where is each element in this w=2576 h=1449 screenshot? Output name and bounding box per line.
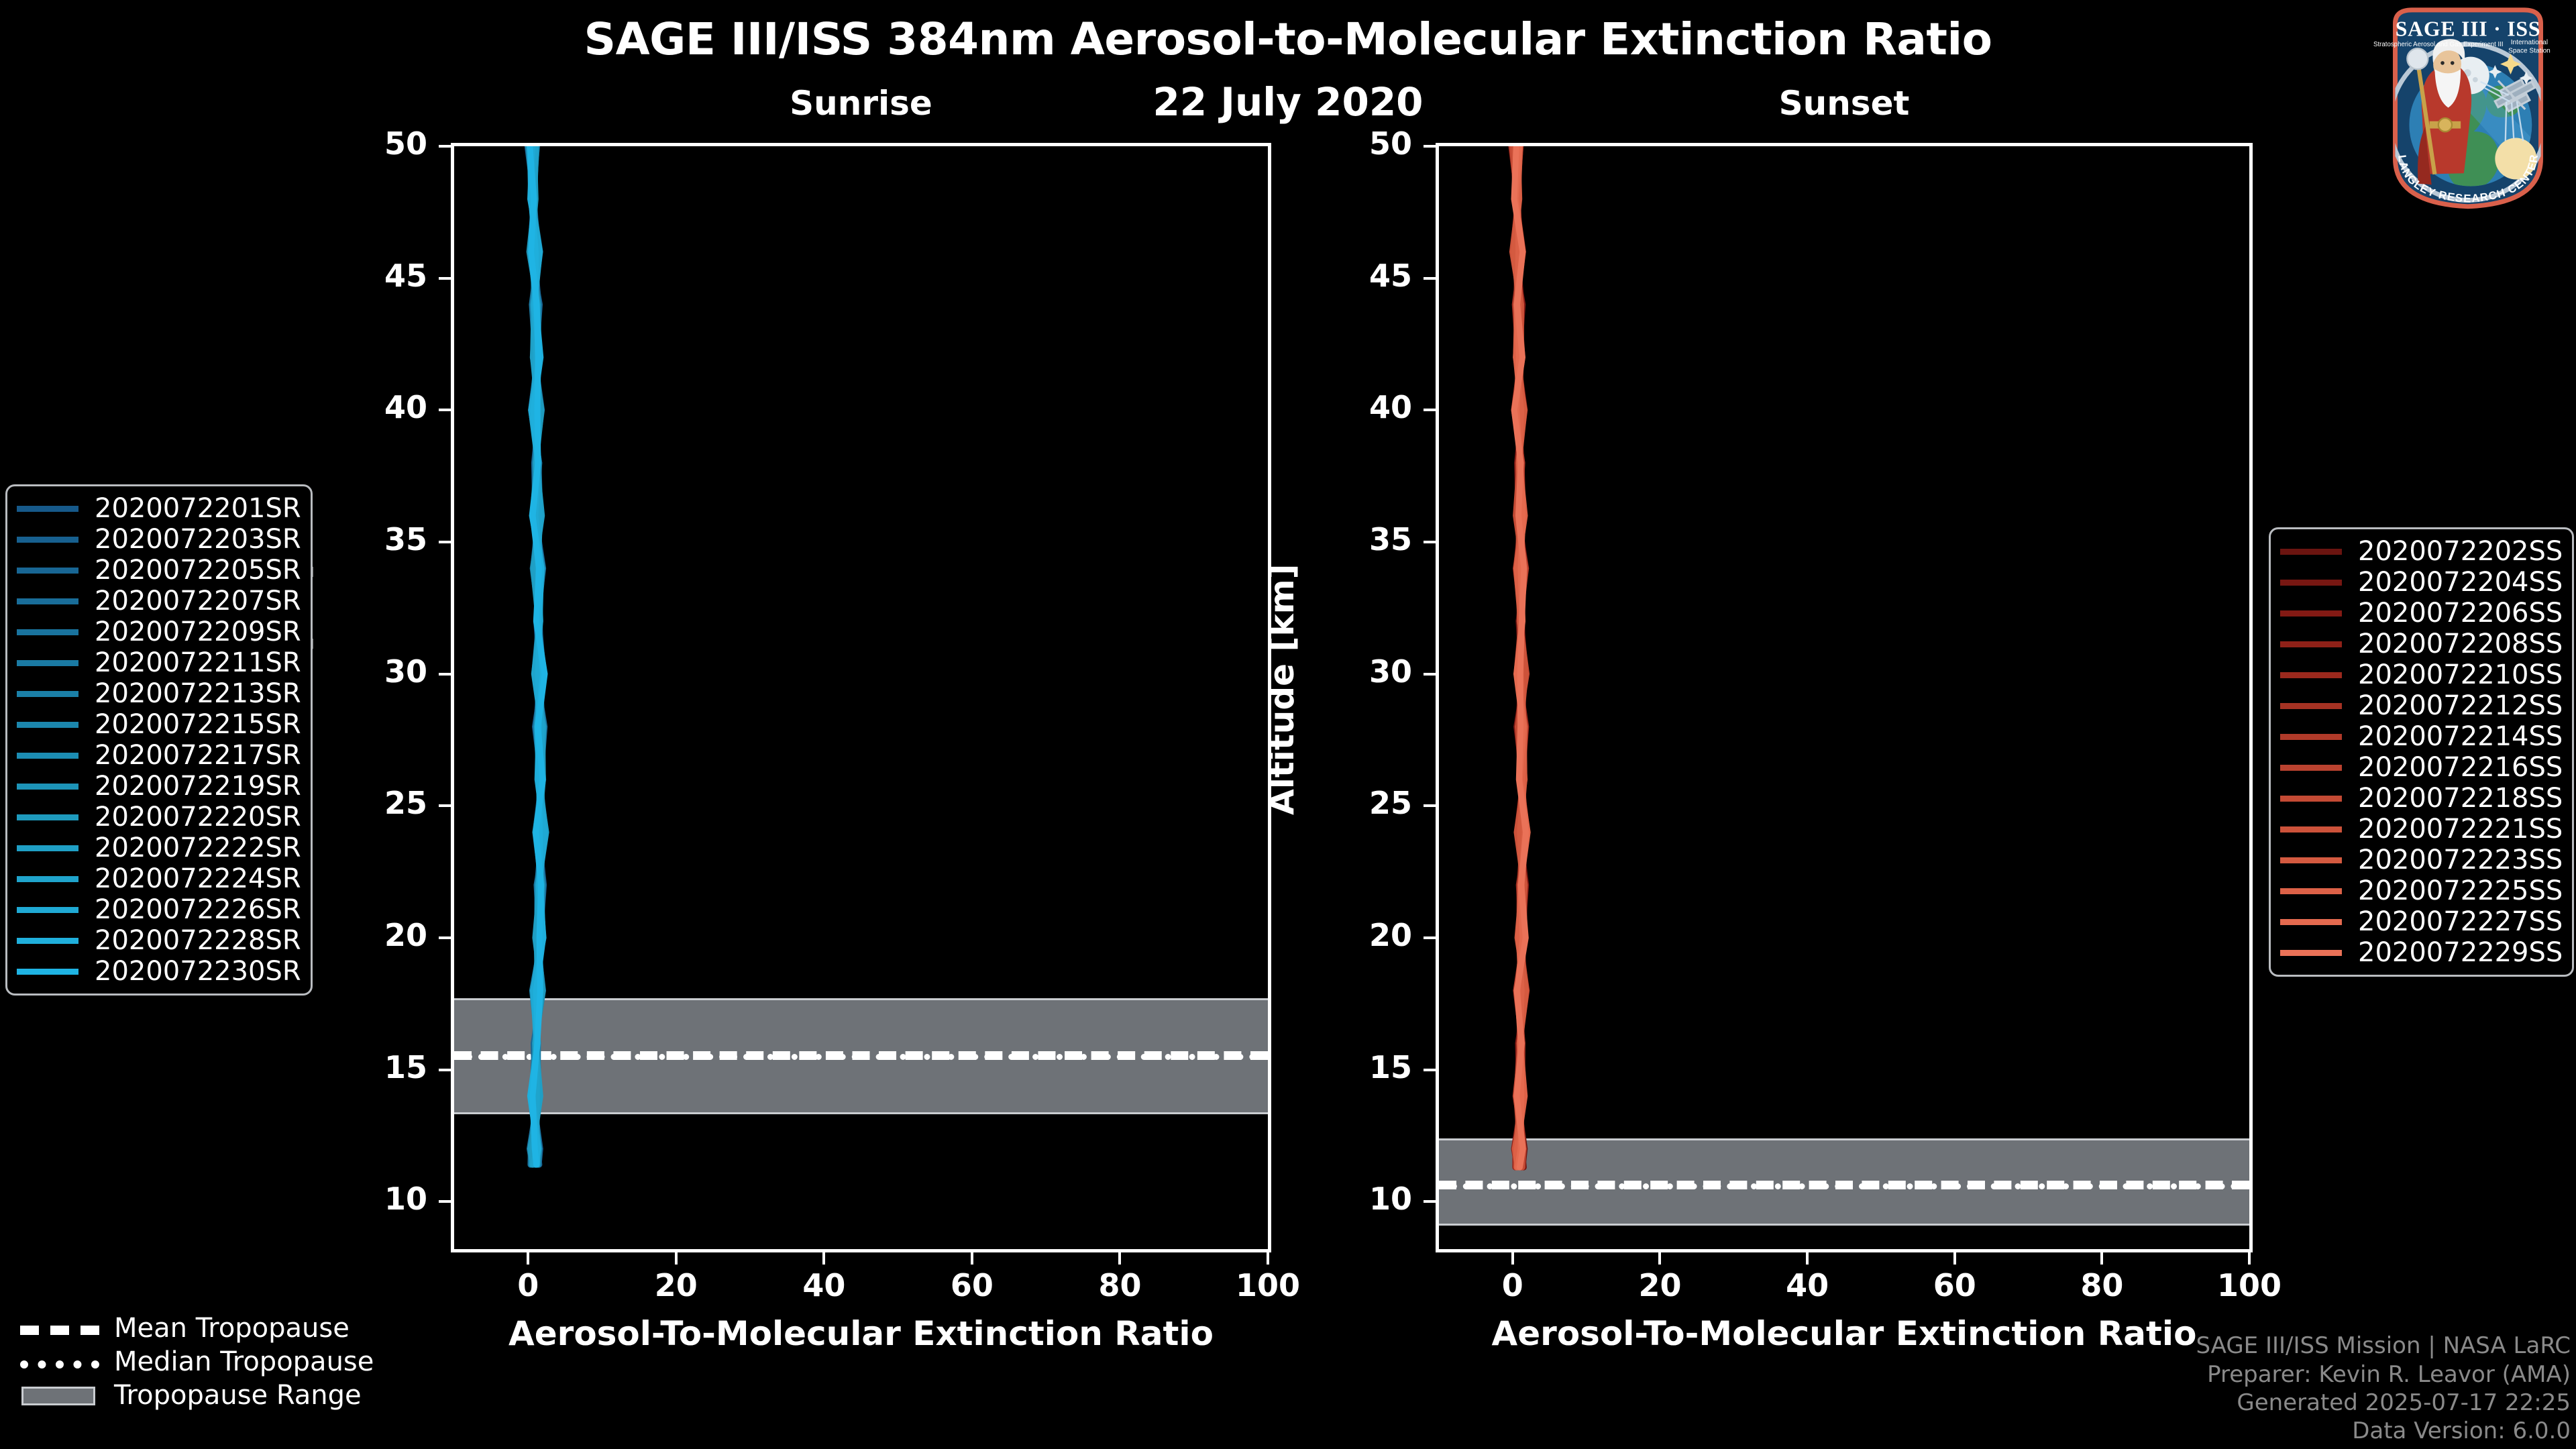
legend-item[interactable]: 2020072208SS (2280, 629, 2563, 659)
y-tick-label: 50 (1281, 125, 1412, 162)
y-tick-mark (1424, 936, 1436, 939)
legend-item-label: 2020072227SS (2358, 906, 2563, 937)
legend-item-label: 2020072222SR (95, 833, 301, 863)
legend-color-swatch (17, 845, 78, 851)
x-tick-mark (1511, 1252, 1514, 1265)
sage-iii-iss-logo-icon: SAGE III · ISS Stratospheric Aerosol and… (2364, 3, 2572, 211)
y-tick-label: 40 (1281, 389, 1412, 425)
legend-item-label: 2020072202SS (2358, 536, 2563, 567)
legend-color-swatch (2280, 888, 2342, 894)
x-tick-label: 0 (1452, 1267, 1573, 1303)
x-tick-mark (2248, 1252, 2251, 1265)
tropopause-line-swatch (20, 1326, 99, 1335)
y-tick-mark (439, 1200, 451, 1203)
legend-sunrise[interactable]: 2020072201SR2020072203SR2020072205SR2020… (5, 484, 313, 996)
page-title: SAGE III/ISS 384nm Aerosol-to-Molecular … (0, 13, 2576, 65)
y-tick-label: 15 (297, 1049, 427, 1085)
legend-item-label: 2020072230SR (95, 956, 301, 987)
legend-item[interactable]: 2020072212SS (2280, 690, 2563, 721)
y-tick-mark (439, 409, 451, 411)
y-tick-mark (1424, 804, 1436, 807)
legend-color-swatch (17, 691, 78, 697)
legend-color-swatch (2280, 703, 2342, 709)
legend-item-label: 2020072206SS (2358, 598, 2563, 629)
x-tick-label: 80 (2041, 1267, 2162, 1303)
legend-color-swatch (2280, 857, 2342, 863)
legend-item[interactable]: 2020072204SS (2280, 567, 2563, 598)
y-tick-mark (1424, 1200, 1436, 1203)
panel-title-sunset: Sunset (1436, 84, 2253, 123)
y-tick-mark (439, 1069, 451, 1071)
x-tick-mark (675, 1252, 678, 1265)
legend-color-swatch (2280, 950, 2342, 956)
credits-line: Data Version: 6.0.0 (2196, 1417, 2571, 1445)
legend-item[interactable]: 2020072207SR (17, 586, 301, 616)
y-tick-mark (1424, 673, 1436, 676)
tropopause-legend-key-dashed (20, 1318, 99, 1338)
y-tick-label: 50 (297, 125, 427, 162)
legend-item-label: 2020072223SS (2358, 845, 2563, 875)
legend-item[interactable]: 2020072224SR (17, 863, 301, 894)
tropopause-legend-item: Median Tropopause (20, 1345, 374, 1379)
legend-item-label: 2020072201SR (95, 493, 301, 524)
legend-item-label: 2020072211SR (95, 647, 301, 678)
plot-area-sunset (1436, 143, 2253, 1252)
tropopause-legend-label: Mean Tropopause (114, 1313, 350, 1344)
legend-color-swatch (17, 814, 78, 820)
legend-item[interactable]: 2020072229SS (2280, 937, 2563, 968)
tropopause-legend-label: Tropopause Range (114, 1380, 362, 1411)
legend-color-swatch (2280, 734, 2342, 740)
legend-item-label: 2020072209SR (95, 616, 301, 647)
tropopause-legend-key-dotted (20, 1352, 99, 1372)
legend-color-swatch (2280, 641, 2342, 647)
legend-sunset[interactable]: 2020072202SS2020072204SS2020072206SS2020… (2269, 527, 2574, 977)
legend-color-swatch (2280, 765, 2342, 771)
legend-color-swatch (2280, 672, 2342, 678)
x-axis-label: Aerosol-To-Molecular Extinction Ratio (451, 1314, 1271, 1353)
legend-item[interactable]: 2020072201SR (17, 493, 301, 524)
x-tick-mark (2100, 1252, 2103, 1265)
logo-subtitle-right-1: International (2511, 39, 2548, 46)
legend-item[interactable]: 2020072230SR (17, 956, 301, 987)
legend-color-swatch (17, 598, 78, 604)
legend-color-swatch (17, 784, 78, 790)
y-tick-label: 10 (297, 1181, 427, 1217)
legend-item[interactable]: 2020072225SS (2280, 875, 2563, 906)
y-tick-label: 40 (297, 389, 427, 425)
y-tick-label: 15 (1281, 1049, 1412, 1085)
legend-item[interactable]: 2020072223SS (2280, 845, 2563, 875)
legend-item-label: 2020072220SR (95, 802, 301, 833)
legend-item-label: 2020072224SR (95, 863, 301, 894)
tropopause-legend-label: Median Tropopause (114, 1346, 374, 1377)
y-tick-label: 20 (1281, 917, 1412, 953)
legend-item-label: 2020072221SS (2358, 814, 2563, 845)
x-tick-label: 40 (763, 1267, 884, 1303)
legend-item[interactable]: 2020072211SR (17, 647, 301, 678)
x-tick-mark (1953, 1252, 1956, 1265)
y-tick-label: 35 (1281, 521, 1412, 557)
credits-line: Preparer: Kevin R. Leavor (AMA) (2196, 1360, 2571, 1389)
legend-color-swatch (2280, 796, 2342, 802)
x-tick-label: 40 (1747, 1267, 1868, 1303)
profile-traces (454, 146, 1268, 1249)
credits-line: SAGE III/ISS Mission | NASA LaRC (2196, 1332, 2571, 1360)
legend-color-swatch (2280, 826, 2342, 833)
y-axis-label: Altitude [km] (1263, 563, 1301, 815)
logo-subtitle-left: Stratospheric Aerosol and Gas Experiment… (2373, 41, 2504, 48)
legend-color-swatch (17, 629, 78, 635)
x-tick-label: 60 (912, 1267, 1032, 1303)
legend-item-label: 2020072214SS (2358, 721, 2563, 752)
y-tick-mark (439, 541, 451, 543)
legend-item-label: 2020072217SR (95, 740, 301, 771)
legend-color-swatch (17, 660, 78, 666)
legend-item[interactable]: 2020072216SS (2280, 752, 2563, 783)
legend-color-swatch (17, 506, 78, 512)
x-tick-mark (527, 1252, 529, 1265)
legend-item[interactable]: 2020072218SS (2280, 783, 2563, 814)
legend-item-label: 2020072203SR (95, 524, 301, 555)
legend-item[interactable]: 2020072217SR (17, 740, 301, 771)
x-tick-label: 60 (1894, 1267, 2015, 1303)
legend-item-label: 2020072215SR (95, 709, 301, 740)
y-tick-label: 10 (1281, 1181, 1412, 1217)
y-tick-mark (1424, 277, 1436, 280)
profile-traces (1439, 146, 2249, 1249)
legend-item[interactable]: 2020072215SR (17, 709, 301, 740)
legend-color-swatch (17, 907, 78, 913)
y-tick-mark (439, 673, 451, 676)
tropopause-legend-item: Tropopause Range (20, 1379, 374, 1412)
y-tick-mark (439, 145, 451, 148)
y-tick-mark (439, 936, 451, 939)
legend-item[interactable]: 2020072205SR (17, 555, 301, 586)
legend-item[interactable]: 2020072209SR (17, 616, 301, 647)
x-tick-mark (1658, 1252, 1661, 1265)
panel-title-sunrise: Sunrise (451, 84, 1271, 123)
x-tick-label: 80 (1059, 1267, 1180, 1303)
tropopause-range-swatch (21, 1387, 95, 1405)
legend-item-label: 2020072213SR (95, 678, 301, 709)
legend-item[interactable]: 2020072228SR (17, 925, 301, 956)
legend-item[interactable]: 2020072206SS (2280, 598, 2563, 629)
legend-color-swatch (2280, 610, 2342, 616)
tropopause-line-swatch (20, 1360, 99, 1368)
legend-item[interactable]: 2020072221SS (2280, 814, 2563, 845)
legend-tropopause: Mean TropopauseMedian TropopauseTropopau… (20, 1311, 374, 1412)
legend-item-label: 2020072226SR (95, 894, 301, 925)
logo-title: SAGE III · ISS (2396, 17, 2541, 41)
legend-item[interactable]: 2020072202SS (2280, 536, 2563, 567)
legend-item[interactable]: 2020072210SS (2280, 659, 2563, 690)
x-tick-mark (1806, 1252, 1809, 1265)
legend-item[interactable]: 2020072203SR (17, 524, 301, 555)
x-tick-mark (971, 1252, 973, 1265)
legend-item-label: 2020072229SS (2358, 937, 2563, 968)
legend-item[interactable]: 2020072227SS (2280, 906, 2563, 937)
x-tick-label: 0 (468, 1267, 588, 1303)
legend-item[interactable]: 2020072226SR (17, 894, 301, 925)
figure-canvas: SAGE III/ISS 384nm Aerosol-to-Molecular … (0, 0, 2576, 1449)
plot-area-sunrise (451, 143, 1271, 1252)
x-tick-label: 20 (616, 1267, 737, 1303)
legend-color-swatch (2280, 549, 2342, 555)
legend-item-label: 2020072207SR (95, 586, 301, 616)
legend-item-label: 2020072218SS (2358, 783, 2563, 814)
legend-item-label: 2020072216SS (2358, 752, 2563, 783)
legend-color-swatch (17, 537, 78, 543)
y-tick-label: 45 (297, 258, 427, 294)
legend-item[interactable]: 2020072219SR (17, 771, 301, 802)
y-tick-label: 35 (297, 521, 427, 557)
legend-item-label: 2020072210SS (2358, 659, 2563, 690)
legend-item-label: 2020072205SR (95, 555, 301, 586)
legend-item-label: 2020072228SR (95, 925, 301, 956)
y-tick-label: 45 (1281, 258, 1412, 294)
y-tick-mark (1424, 1069, 1436, 1071)
y-tick-label: 20 (297, 917, 427, 953)
y-tick-mark (439, 804, 451, 807)
credits-block: SAGE III/ISS Mission | NASA LaRCPreparer… (2196, 1332, 2571, 1445)
x-tick-label: 100 (2189, 1267, 2310, 1303)
legend-item-label: 2020072204SS (2358, 567, 2563, 598)
legend-color-swatch (17, 938, 78, 944)
logo-subtitle-right-2: Space Station (2508, 47, 2551, 54)
legend-item-label: 2020072212SS (2358, 690, 2563, 721)
x-tick-label: 100 (1207, 1267, 1328, 1303)
tropopause-legend-item: Mean Tropopause (20, 1311, 374, 1345)
x-tick-mark (1267, 1252, 1269, 1265)
legend-item-label: 2020072219SR (95, 771, 301, 802)
x-tick-mark (822, 1252, 825, 1265)
legend-color-swatch (17, 722, 78, 728)
legend-color-swatch (17, 876, 78, 882)
y-tick-mark (1424, 145, 1436, 148)
legend-item[interactable]: 2020072214SS (2280, 721, 2563, 752)
legend-color-swatch (2280, 580, 2342, 586)
y-tick-mark (1424, 409, 1436, 411)
y-tick-mark (1424, 541, 1436, 543)
legend-item[interactable]: 2020072220SR (17, 802, 301, 833)
legend-item[interactable]: 2020072222SR (17, 833, 301, 863)
legend-item-label: 2020072225SS (2358, 875, 2563, 906)
legend-color-swatch (17, 568, 78, 574)
legend-color-swatch (17, 753, 78, 759)
y-tick-mark (439, 277, 451, 280)
legend-color-swatch (2280, 919, 2342, 925)
x-tick-label: 20 (1599, 1267, 1720, 1303)
legend-color-swatch (17, 969, 78, 975)
tropopause-legend-key-patch (20, 1385, 99, 1405)
x-tick-mark (1118, 1252, 1121, 1265)
credits-line: Generated 2025-07-17 22:25 (2196, 1389, 2571, 1417)
x-axis-label: Aerosol-To-Molecular Extinction Ratio (1436, 1314, 2253, 1353)
legend-item[interactable]: 2020072213SR (17, 678, 301, 709)
legend-item-label: 2020072208SS (2358, 629, 2563, 659)
